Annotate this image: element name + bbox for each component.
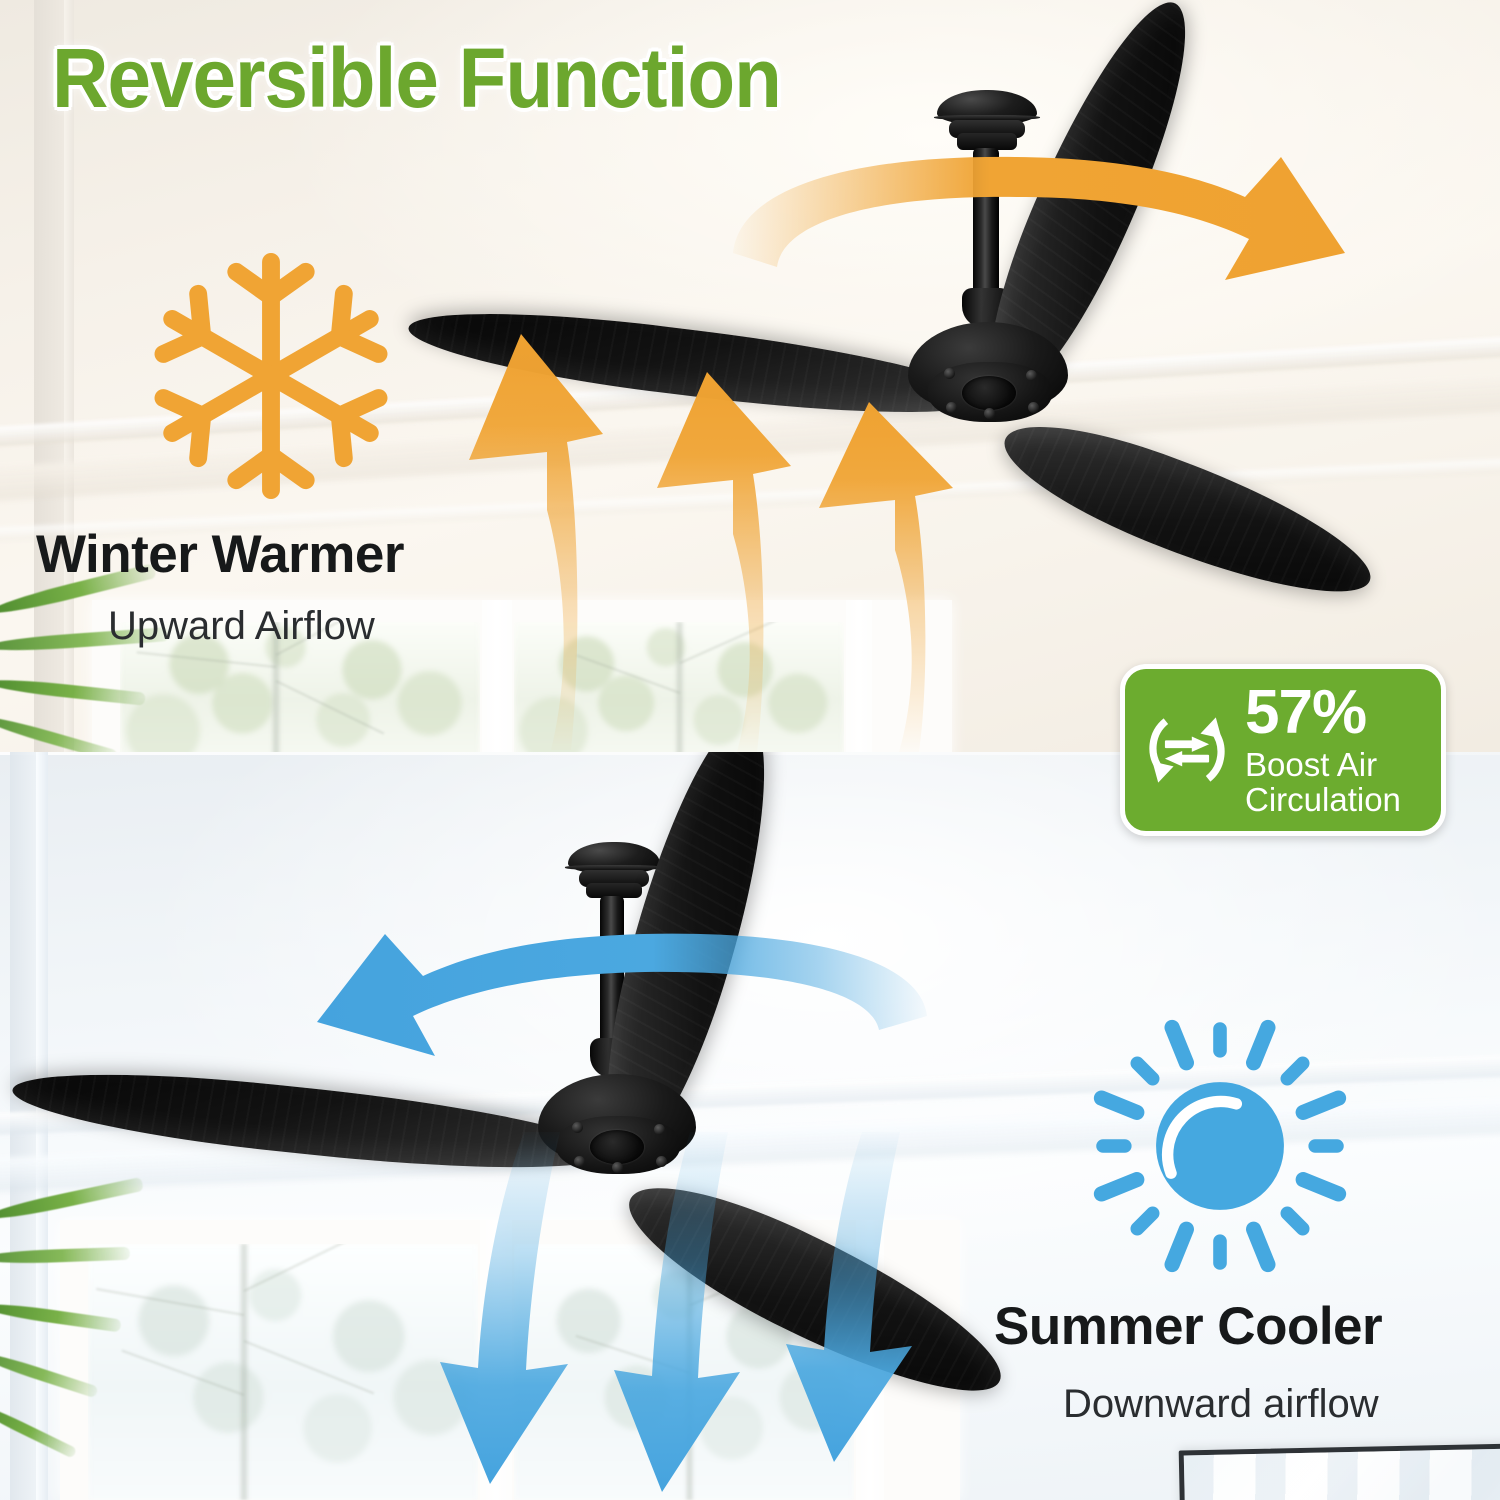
fan-canopy	[568, 842, 660, 900]
summer-mode-subtitle: Downward airflow	[1063, 1382, 1379, 1427]
downward-airflow-arrow	[760, 1132, 960, 1472]
sun-icon	[1084, 1010, 1356, 1282]
reverse-circulation-icon	[1139, 702, 1235, 798]
winter-mode-title: Winter Warmer	[36, 524, 404, 585]
wall-mirror-frame	[1179, 1443, 1500, 1500]
upward-airflow-arrow	[645, 370, 825, 752]
summer-mode-title: Summer Cooler	[994, 1296, 1382, 1357]
upward-airflow-arrow	[805, 400, 985, 752]
counter-clockwise-rotation-arrow	[275, 912, 935, 1112]
snowflake-icon	[146, 252, 396, 500]
upward-airflow-arrow	[455, 330, 635, 750]
hub-screw	[1026, 370, 1037, 381]
page-title: Reversible Function	[52, 30, 781, 127]
winter-mode-subtitle: Upward Airflow	[108, 604, 375, 649]
hub-screw	[1028, 402, 1039, 413]
boost-air-circulation-badge: 57% Boost Air Circulation	[1120, 664, 1446, 836]
clockwise-rotation-arrow	[725, 135, 1365, 355]
fan-blade	[992, 398, 1383, 622]
product-feature-graphic: Reversible Function Winter Warmer Upward…	[0, 0, 1500, 1500]
badge-text-block: 57% Boost Air Circulation	[1245, 682, 1401, 818]
badge-line-1: Boost Air	[1245, 748, 1401, 783]
hub-screw	[944, 368, 955, 379]
hub-screw	[984, 408, 995, 419]
badge-percent: 57%	[1245, 682, 1401, 744]
badge-line-2: Circulation	[1245, 783, 1401, 818]
